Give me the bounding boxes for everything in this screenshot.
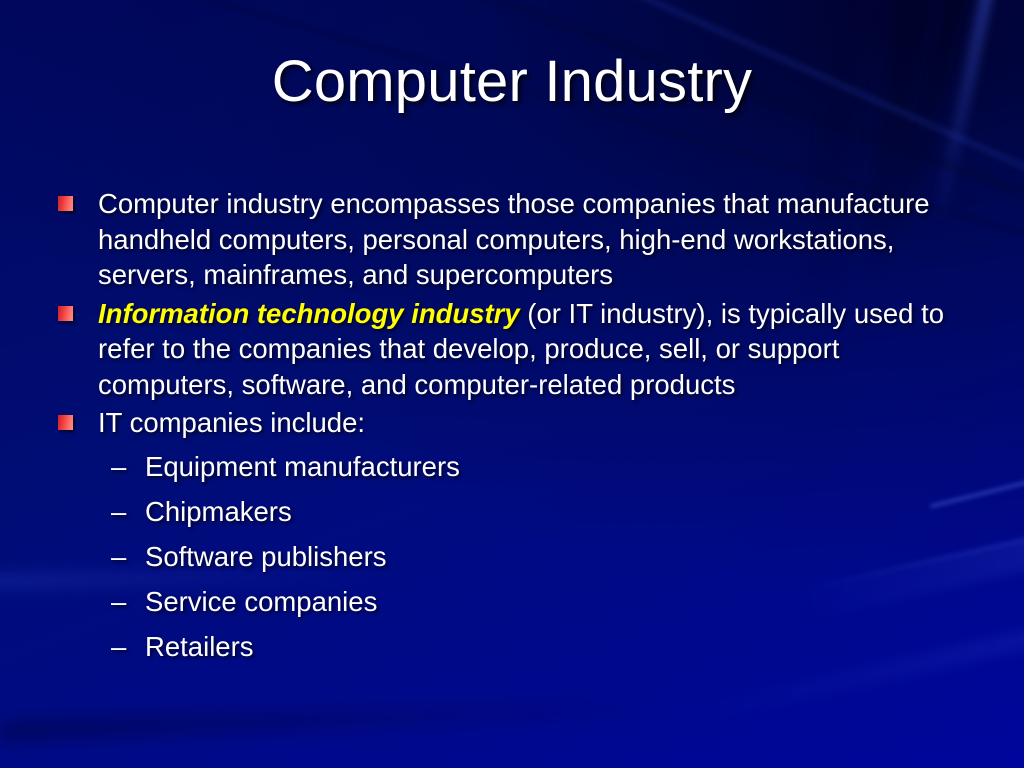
bullet-item-2: Information technology industry (or IT i… [55,296,983,403]
red-square-bullet-icon [58,306,73,321]
red-square-bullet-icon [58,415,73,430]
bullet-item-1: Computer industry encompasses those comp… [55,186,983,293]
sub-bullet-item-2: – Chipmakers [55,489,983,534]
dash-marker-icon: – [111,624,126,669]
dash-marker-icon: – [111,534,126,579]
dash-marker-icon: – [111,579,126,624]
bullet-text-3: IT companies include: [98,407,365,438]
sub-bullet-text-5: Retailers [145,631,254,662]
dash-marker-icon: – [111,444,126,489]
sub-bullet-text-3: Software publishers [145,541,387,572]
sub-bullet-item-3: – Software publishers [55,534,983,579]
sub-bullet-text-1: Equipment manufacturers [145,451,460,482]
red-square-bullet-icon [58,196,73,211]
sub-bullet-text-2: Chipmakers [145,496,292,527]
bullet-item-3: IT companies include: [55,405,983,441]
streak-dark-bottom [0,696,700,742]
slide-body: Computer industry encompasses those comp… [55,186,983,669]
sub-bullet-list: – Equipment manufacturers – Chipmakers –… [55,444,983,669]
presentation-slide: Computer Industry Computer industry enco… [0,0,1024,768]
sub-bullet-item-1: – Equipment manufacturers [55,444,983,489]
dash-marker-icon: – [111,489,126,534]
sub-bullet-item-4: – Service companies [55,579,983,624]
sub-bullet-text-4: Service companies [145,586,377,617]
bullet-text-1: Computer industry encompasses those comp… [98,188,930,290]
sub-bullet-item-5: – Retailers [55,624,983,669]
slide-title: Computer Industry [0,52,1024,113]
bullet-highlight-text: Information technology industry [98,298,520,329]
